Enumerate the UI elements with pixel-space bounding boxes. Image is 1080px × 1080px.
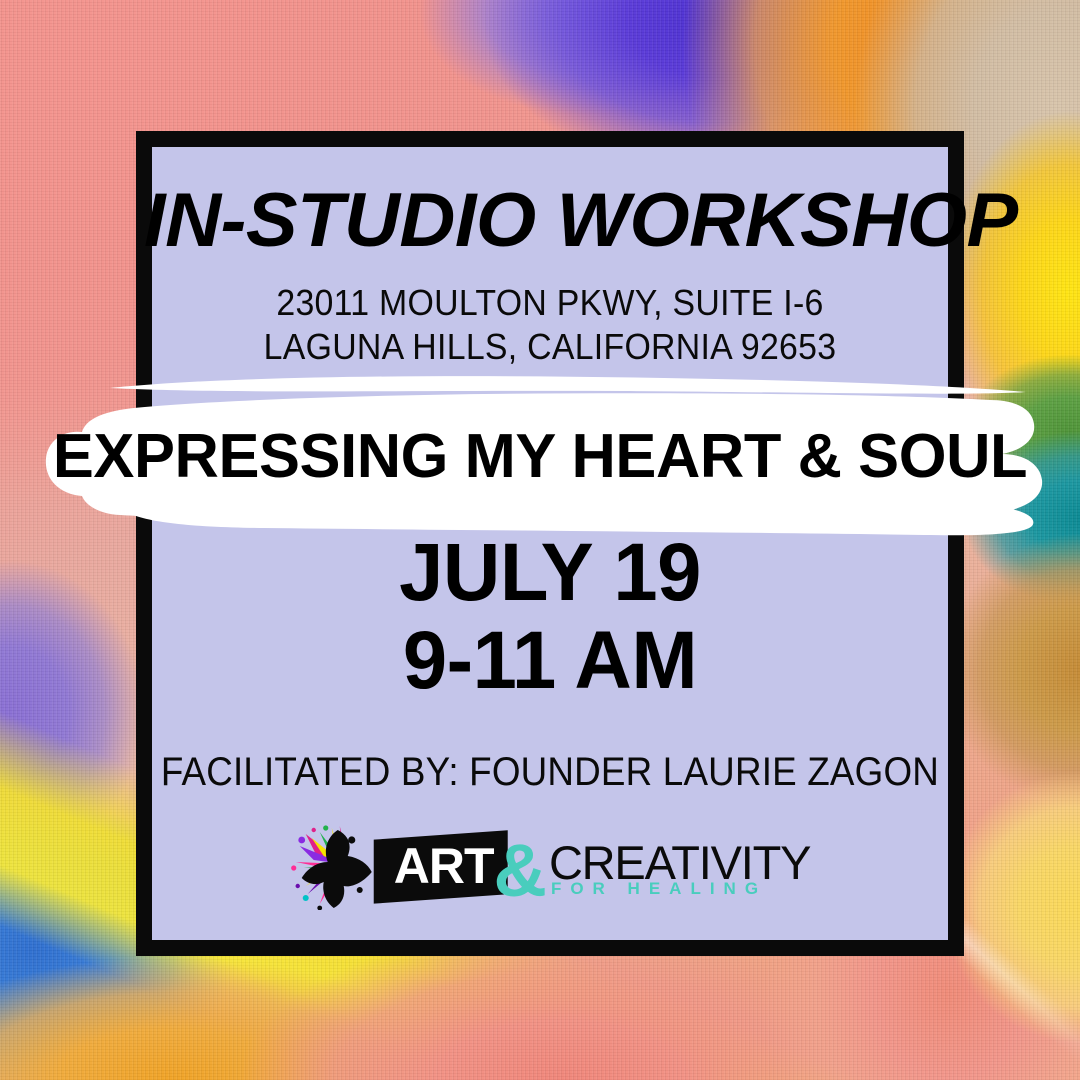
- brush-stroke-banner: EXPRESSING MY HEART & SOUL: [24, 372, 1056, 536]
- address-line-2: LAGUNA HILLS, CALIFORNIA 92653: [176, 325, 924, 369]
- event-date: JULY 19: [164, 529, 936, 617]
- poster-panel: IN-STUDIO WORKSHOP 23011 MOULTON PKWY, S…: [152, 147, 948, 940]
- schedule-block: JULY 19 9-11 AM: [152, 529, 948, 704]
- address-line-1: 23011 MOULTON PKWY, SUITE I-6: [176, 281, 924, 325]
- logo-art-block: ART: [374, 830, 508, 903]
- logo-tagline: FOR HEALING: [551, 880, 810, 897]
- logo-art-text: ART: [394, 841, 494, 891]
- logo-ampersand: &: [493, 834, 546, 908]
- poster-frame: IN-STUDIO WORKSHOP 23011 MOULTON PKWY, S…: [136, 131, 964, 956]
- event-time: 9-11 AM: [164, 617, 936, 705]
- brand-logo: ART & CREATIVITY FOR HEALING: [290, 824, 811, 910]
- headline-text: EXPRESSING MY HEART & SOUL: [29, 374, 1051, 538]
- facilitator-line: FACILITATED BY: FOUNDER LAURIE ZAGON: [161, 750, 939, 795]
- paint-splatter-icon: [290, 824, 386, 910]
- logo-right-stack: CREATIVITY FOR HEALING: [549, 841, 810, 897]
- logo-wordmark: ART & CREATIVITY FOR HEALING: [374, 824, 811, 910]
- page-title: IN-STUDIO WORKSHOP: [144, 183, 956, 259]
- poster-canvas: IN-STUDIO WORKSHOP 23011 MOULTON PKWY, S…: [0, 0, 1080, 1080]
- heading-block: IN-STUDIO WORKSHOP 23011 MOULTON PKWY, S…: [152, 183, 948, 369]
